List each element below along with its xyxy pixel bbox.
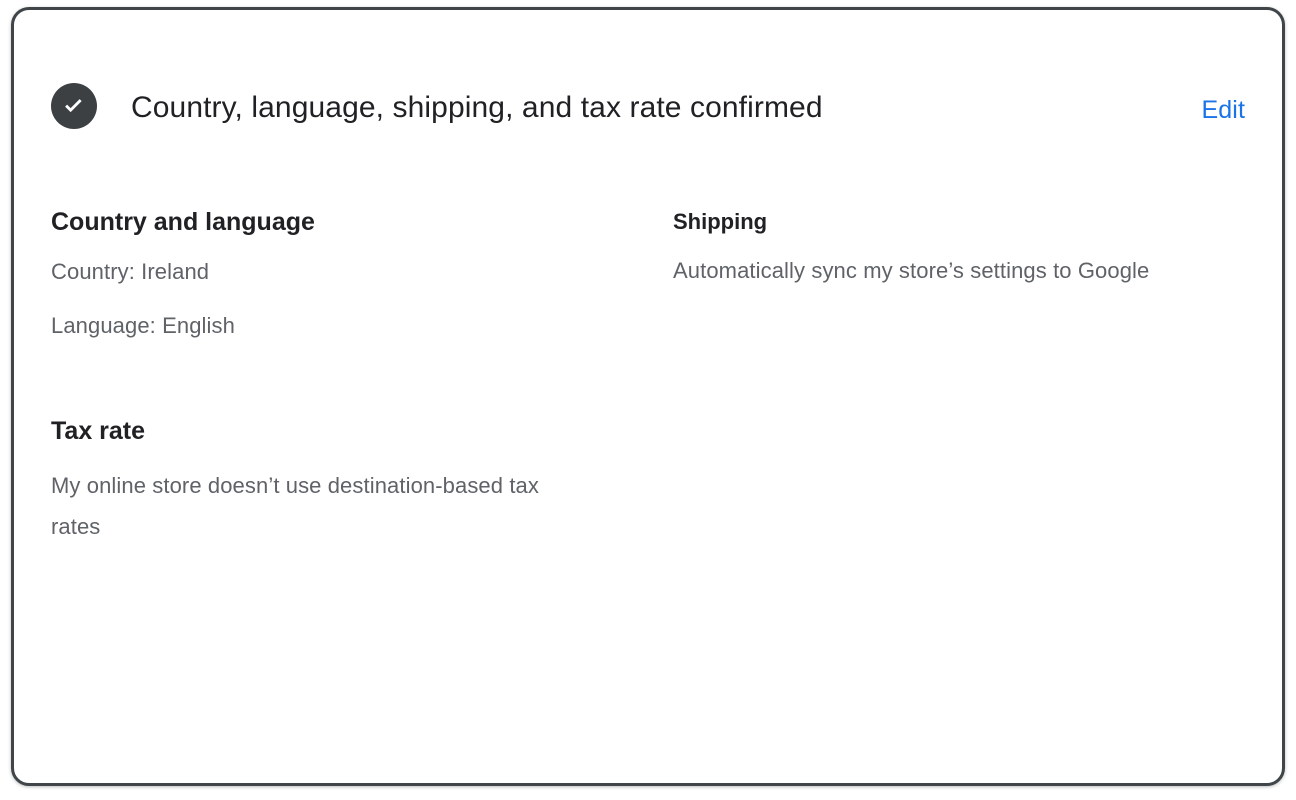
status-card: Country, language, shipping, and tax rat… (11, 7, 1285, 786)
country-and-language-section: Country and language Country: Ireland La… (51, 206, 315, 346)
tax-rate-heading: Tax rate (51, 415, 581, 447)
tax-rate-section: Tax rate My online store doesn’t use des… (51, 415, 581, 547)
screen-canvas: Country, language, shipping, and tax rat… (0, 0, 1296, 800)
country-value: Country: Ireland (51, 252, 315, 292)
card-header: Country, language, shipping, and tax rat… (14, 10, 1282, 150)
shipping-value: Automatically sync my store’s settings t… (673, 250, 1213, 291)
page-title: Country, language, shipping, and tax rat… (131, 88, 1131, 128)
edit-button[interactable]: Edit (1202, 95, 1245, 125)
shipping-section: Shipping Automatically sync my store’s s… (673, 208, 1213, 291)
tax-rate-value: My online store doesn’t use destination-… (51, 465, 581, 547)
language-value: Language: English (51, 306, 315, 346)
check-circle-icon (51, 83, 97, 129)
shipping-heading: Shipping (673, 208, 1213, 236)
country-and-language-heading: Country and language (51, 206, 315, 238)
